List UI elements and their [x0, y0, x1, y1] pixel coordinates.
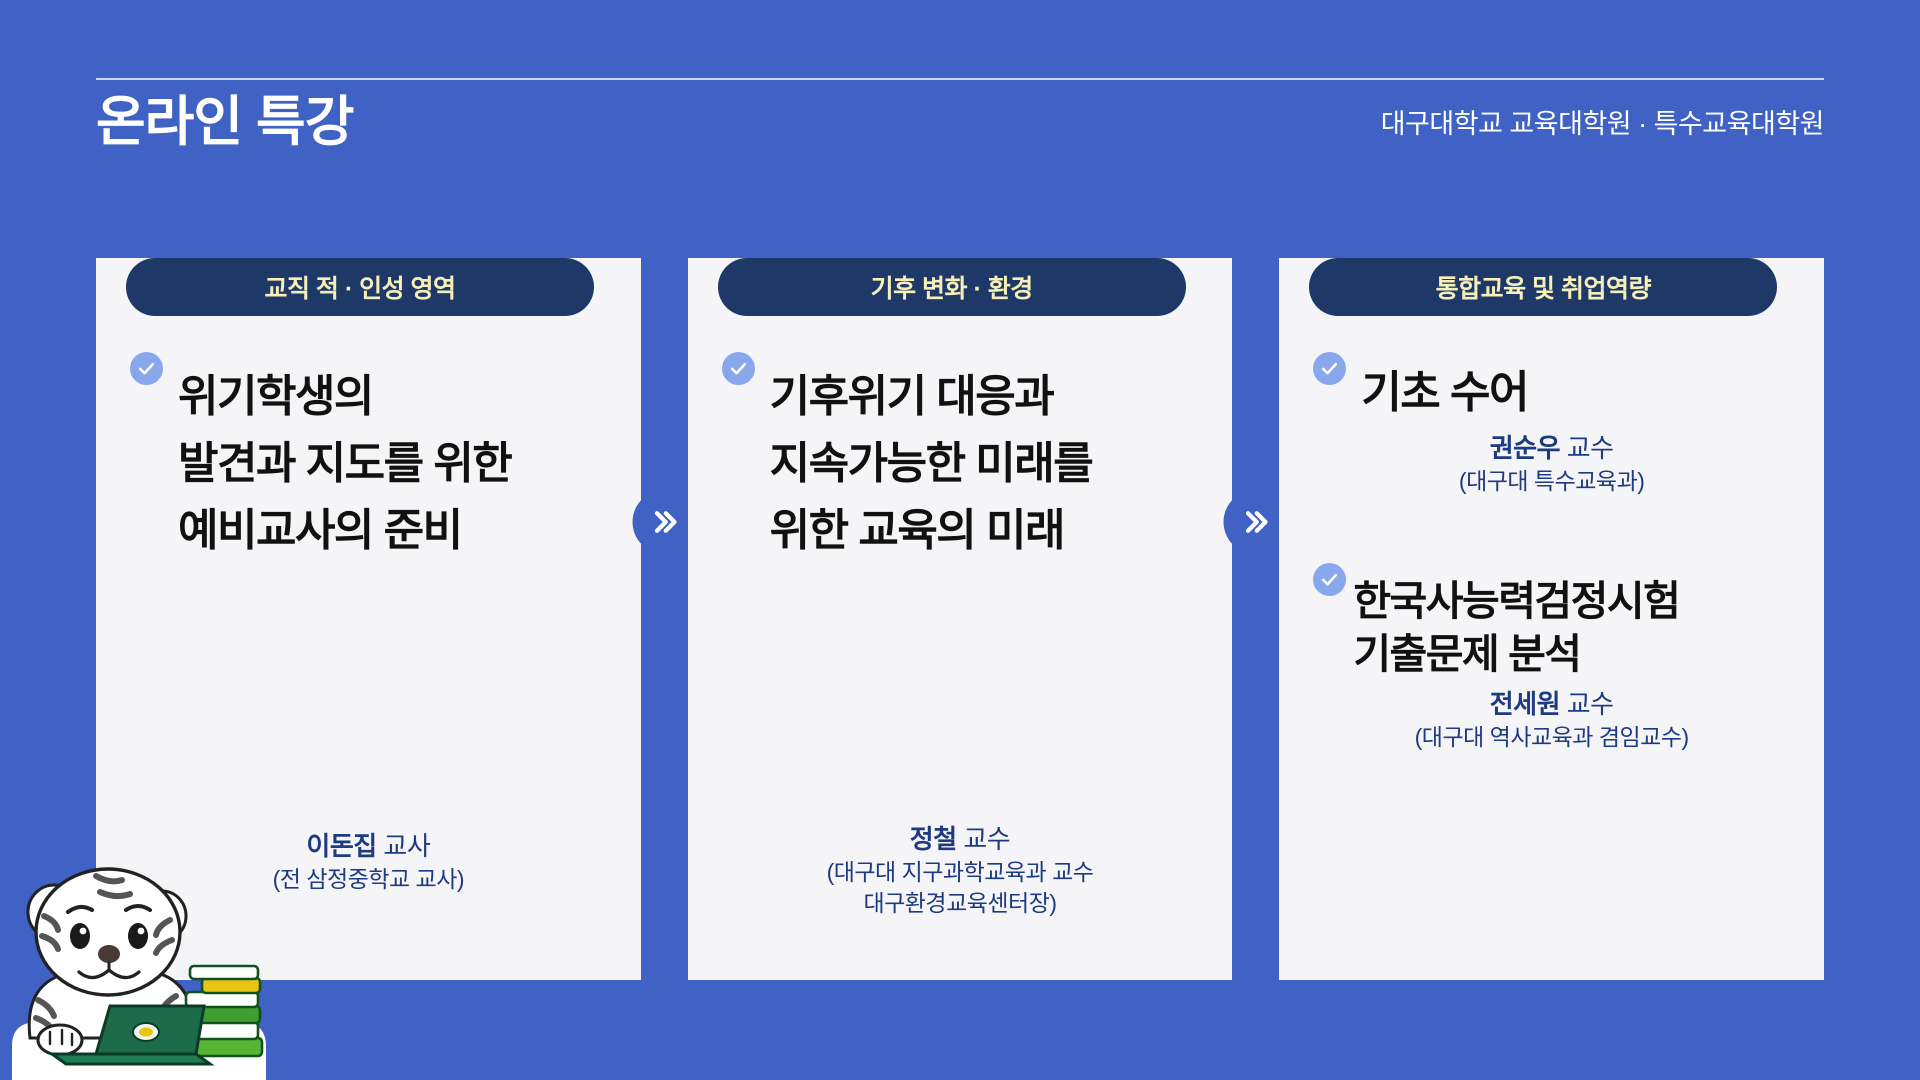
title-line: 위기학생의: [178, 364, 607, 431]
card-2-category-label: 기후 변화 · 환경: [871, 269, 1033, 305]
instructor-title-text: 교수: [957, 824, 1011, 854]
organization-name: 대구대학교 교육대학원 · 특수교육대학원: [1381, 102, 1824, 151]
check-circle-icon: [1313, 563, 1346, 596]
affiliation-line: 대구환경교육센터장): [688, 888, 1233, 918]
lecture-card-2[interactable]: 기후 변화 · 환경 기후위기 대응과 지속가능한 미래를 위한 교육의 미래 …: [688, 258, 1233, 980]
page-title: 온라인 특강: [96, 94, 353, 151]
instructor-affiliation: (대구대 역사교육과 겸임교수): [1313, 722, 1790, 752]
double-chevron-right-icon: [632, 490, 696, 554]
instructor-name-text: 정철: [910, 824, 957, 854]
card-3-item-1-title: 기초 수어: [1313, 352, 1790, 421]
page-header: 온라인 특강 대구대학교 교육대학원 · 특수교육대학원: [96, 78, 1824, 151]
connector-slot-1: [641, 258, 688, 980]
instructor-name: 권순우 교수: [1313, 431, 1790, 466]
title-line: 기출문제 분석: [1353, 628, 1790, 681]
card-2-category-pill: 기후 변화 · 환경: [718, 258, 1186, 316]
title-line: 위한 교육의 미래: [770, 498, 1199, 565]
instructor-name: 전세원 교수: [1313, 687, 1790, 722]
instructor-title-text: 교수: [1560, 433, 1614, 463]
header-divider: [96, 78, 1824, 80]
instructor-name-text: 전세원: [1490, 689, 1560, 719]
title-line: 지속가능한 미래를: [770, 431, 1199, 498]
card-3-item-1: 기초 수어: [1313, 352, 1790, 421]
card-1-item-1-title: 위기학생의 발견과 지도를 위한 예비교사의 준비: [130, 352, 607, 565]
title-line: 예비교사의 준비: [178, 498, 607, 565]
card-1-item-1: 위기학생의 발견과 지도를 위한 예비교사의 준비: [130, 352, 607, 565]
card-1-category-label: 교직 적 · 인성 영역: [264, 269, 455, 305]
title-line: 기후위기 대응과: [770, 364, 1199, 431]
card-3-item-2-title: 한국사능력검정시험 기출문제 분석: [1313, 563, 1790, 682]
title-line: 기초 수어: [1361, 364, 1790, 421]
instructor-name-text: 이돈집: [306, 831, 376, 861]
affiliation-line: (대구대 지구과학교육과 교수: [688, 857, 1233, 887]
title-line: 발견과 지도를 위한: [178, 431, 607, 498]
card-2-item-1-credits: 정철 교수 (대구대 지구과학교육과 교수 대구환경교육센터장): [688, 822, 1233, 918]
card-3-body: 기초 수어 권순우 교수 (대구대 특수교육과) 한국사능력검정시험 기출문제 …: [1279, 316, 1824, 980]
instructor-affiliation: (대구대 특수교육과): [1313, 466, 1790, 496]
card-2-body: 기후위기 대응과 지속가능한 미래를 위한 교육의 미래 정철 교수 (대구대 …: [688, 316, 1233, 980]
card-3-item-1-credits: 권순우 교수 (대구대 특수교육과): [1313, 431, 1790, 496]
card-2-item-1: 기후위기 대응과 지속가능한 미래를 위한 교육의 미래: [722, 352, 1199, 565]
card-3-category-pill: 통합교육 및 취업역량: [1309, 258, 1777, 316]
lecture-card-3[interactable]: 통합교육 및 취업역량 기초 수어 권순우 교수 (대구대 특수교육과): [1279, 258, 1824, 980]
card-1-category-pill: 교직 적 · 인성 영역: [126, 258, 594, 316]
check-circle-icon: [722, 352, 755, 385]
connector-slot-2: [1232, 258, 1279, 980]
card-3-item-2-credits: 전세원 교수 (대구대 역사교육과 겸임교수): [1313, 687, 1790, 752]
double-chevron-right-icon: [1224, 490, 1288, 554]
instructor-affiliation: (대구대 지구과학교육과 교수 대구환경교육센터장): [688, 857, 1233, 918]
card-2-item-1-title: 기후위기 대응과 지속가능한 미래를 위한 교육의 미래: [722, 352, 1199, 565]
card-3-item-2: 한국사능력검정시험 기출문제 분석: [1313, 563, 1790, 682]
affiliation-line: (대구대 역사교육과 겸임교수): [1313, 722, 1790, 752]
instructor-name-text: 권순우: [1490, 433, 1560, 463]
instructor-title-text: 교사: [377, 831, 431, 861]
instructor-title-text: 교수: [1560, 689, 1614, 719]
card-3-category-label: 통합교육 및 취업역량: [1436, 269, 1651, 305]
check-circle-icon: [130, 352, 163, 385]
title-line: 한국사능력검정시험: [1353, 575, 1790, 628]
lecture-card-board: 교직 적 · 인성 영역 위기학생의 발견과 지도를 위한 예비교사의 준비 이…: [96, 258, 1824, 980]
tiger-mascot-with-laptop-icon: [4, 850, 274, 1080]
affiliation-line: (대구대 특수교육과): [1313, 466, 1790, 496]
instructor-name: 정철 교수: [688, 822, 1233, 857]
